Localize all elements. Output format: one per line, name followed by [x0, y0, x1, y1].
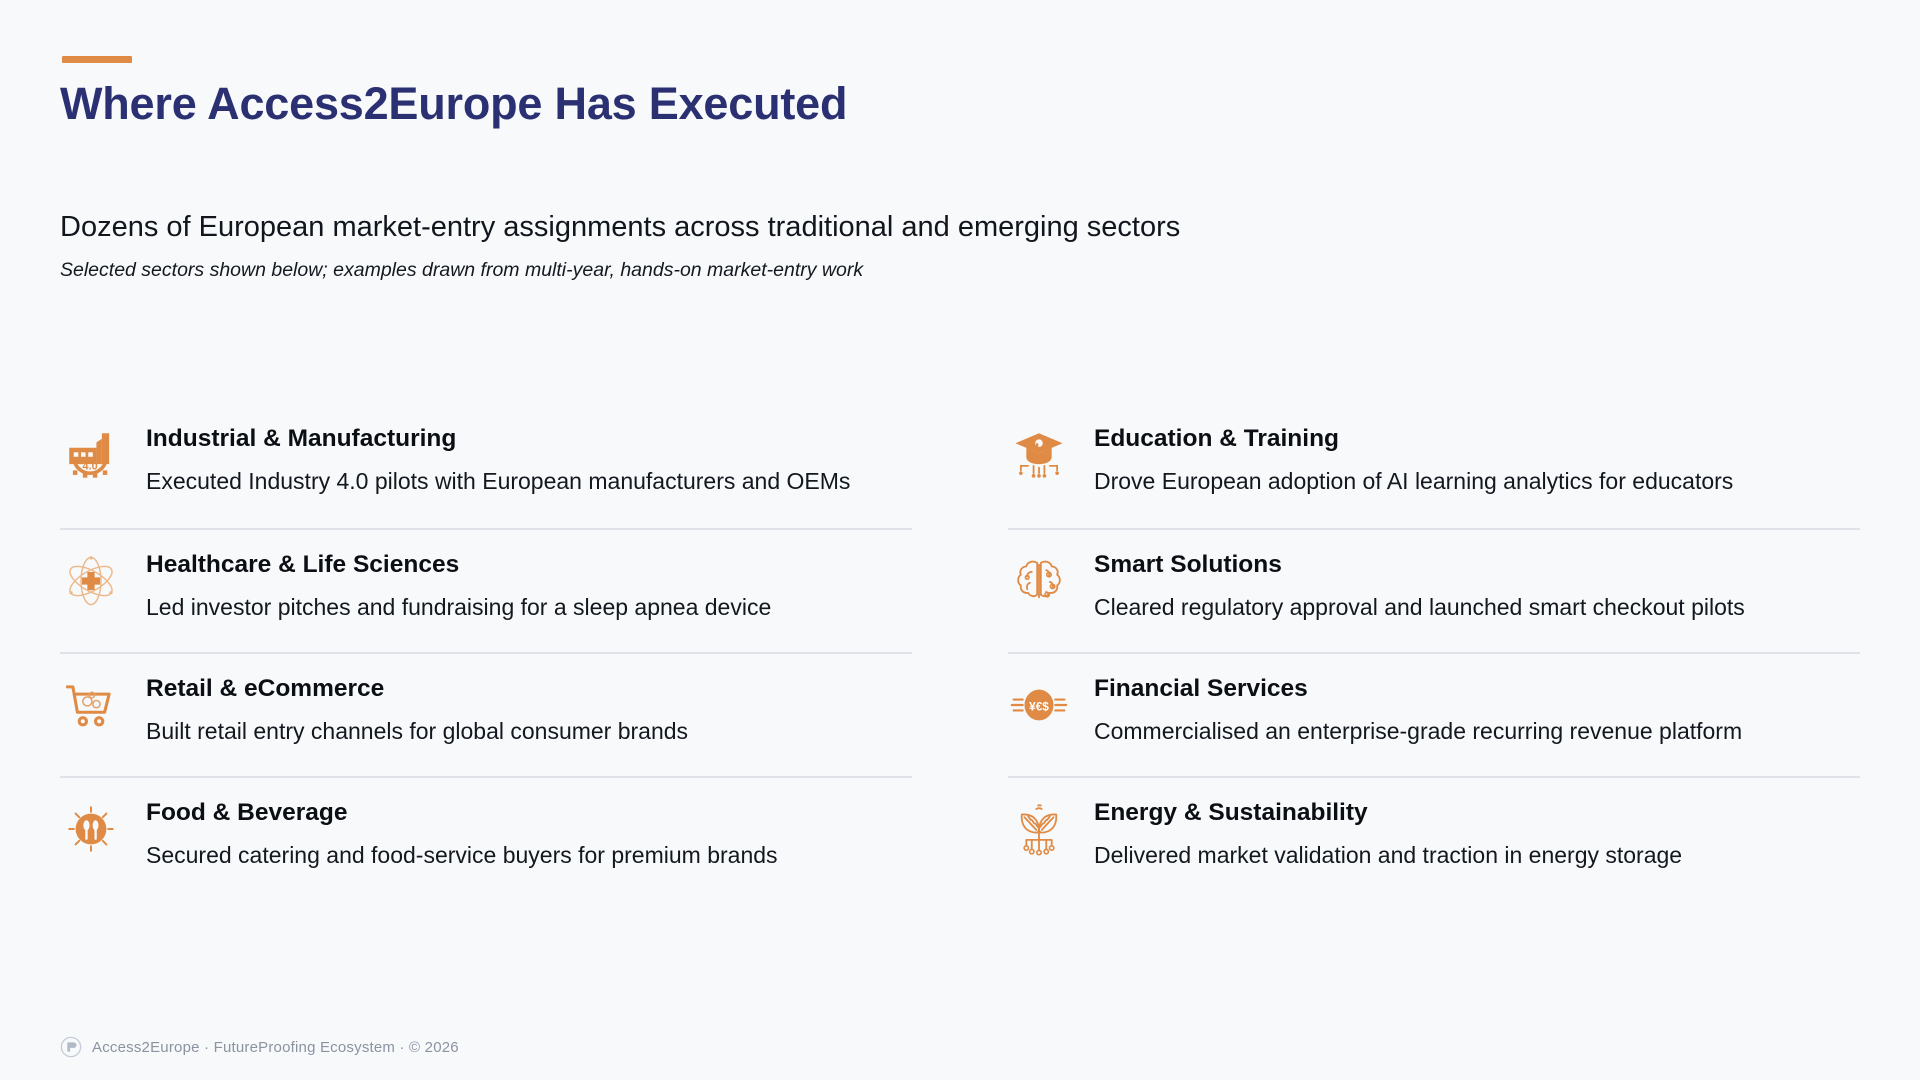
sector-text: Retail & eCommerce Built retail entry ch… — [146, 668, 688, 746]
sector-title: Retail & eCommerce — [146, 674, 688, 703]
sector-title: Food & Beverage — [146, 798, 778, 827]
accent-bar — [62, 56, 132, 63]
sector-column-right: Education & Training Drove European adop… — [1008, 404, 1860, 900]
footer-text: Access2Europe · FutureProofing Ecosystem… — [92, 1039, 459, 1056]
page-title: Where Access2Europe Has Executed — [60, 78, 847, 130]
sector-description: Cleared regulatory approval and launched… — [1094, 593, 1745, 622]
sector-description: Delivered market validation and traction… — [1094, 841, 1682, 870]
page-subtitle: Dozens of European market-entry assignme… — [60, 209, 1180, 245]
sector-title: Industrial & Manufacturing — [146, 424, 850, 453]
sector-text: Financial Services Commercialised an ent… — [1094, 668, 1742, 746]
sector-item-smart-solutions[interactable]: Smart Solutions Cleared regulatory appro… — [1008, 528, 1860, 652]
sector-title: Smart Solutions — [1094, 550, 1745, 579]
access2europe-logo-icon — [60, 1036, 82, 1058]
sector-item-healthcare-life-sciences[interactable]: Healthcare & Life Sciences Led investor … — [60, 528, 912, 652]
sector-text: Energy & Sustainability Delivered market… — [1094, 792, 1682, 870]
sector-text: Healthcare & Life Sciences Led investor … — [146, 544, 771, 622]
brain-circuit-icon — [1008, 544, 1070, 618]
sector-description: Executed Industry 4.0 pilots with Europe… — [146, 467, 850, 496]
slide-root: Where Access2Europe Has Executed Dozens … — [0, 0, 1920, 1080]
sector-item-food-beverage[interactable]: Food & Beverage Secured catering and foo… — [60, 776, 912, 900]
sector-columns: 4.0 Industrial & Manufacturing Executed … — [0, 404, 1920, 900]
atom-medical-cross-icon — [60, 544, 122, 618]
sector-description: Secured catering and food-service buyers… — [146, 841, 778, 870]
food-spoon-fork-circle-icon — [60, 792, 122, 866]
sector-item-industrial-manufacturing[interactable]: 4.0 Industrial & Manufacturing Executed … — [60, 404, 912, 528]
sector-title: Financial Services — [1094, 674, 1742, 703]
currency-coin-icon: ¥€$ — [1008, 668, 1070, 742]
sector-item-energy-sustainability[interactable]: Energy & Sustainability Delivered market… — [1008, 776, 1860, 900]
sector-description: Led investor pitches and fundraising for… — [146, 593, 771, 622]
sector-text: Industrial & Manufacturing Executed Indu… — [146, 418, 850, 496]
sector-item-education-training[interactable]: Education & Training Drove European adop… — [1008, 404, 1860, 528]
sector-description: Commercialised an enterprise-grade recur… — [1094, 717, 1742, 746]
sector-description: Drove European adoption of AI learning a… — [1094, 467, 1733, 496]
sector-item-financial-services[interactable]: ¥€$ Financial Services Commercialised an… — [1008, 652, 1860, 776]
sector-text: Education & Training Drove European adop… — [1094, 418, 1733, 496]
sector-text: Food & Beverage Secured catering and foo… — [146, 792, 778, 870]
sector-description: Built retail entry channels for global c… — [146, 717, 688, 746]
sector-item-retail-ecommerce[interactable]: Retail & eCommerce Built retail entry ch… — [60, 652, 912, 776]
factory-industry40-icon: 4.0 — [60, 418, 122, 492]
page-subnote: Selected sectors shown below; examples d… — [60, 258, 863, 283]
sector-title: Healthcare & Life Sciences — [146, 550, 771, 579]
footer: Access2Europe · FutureProofing Ecosystem… — [60, 1036, 459, 1058]
plant-circuit-roots-icon — [1008, 792, 1070, 866]
sector-text: Smart Solutions Cleared regulatory appro… — [1094, 544, 1745, 622]
factory-icon-label: 4.0 — [83, 461, 98, 473]
graduation-cap-circuit-icon — [1008, 418, 1070, 492]
sector-title: Energy & Sustainability — [1094, 798, 1682, 827]
currency-icon-label: ¥€$ — [1029, 700, 1049, 713]
sector-column-left: 4.0 Industrial & Manufacturing Executed … — [60, 404, 912, 900]
shopping-cart-gears-icon — [60, 668, 122, 742]
sector-title: Education & Training — [1094, 424, 1733, 453]
